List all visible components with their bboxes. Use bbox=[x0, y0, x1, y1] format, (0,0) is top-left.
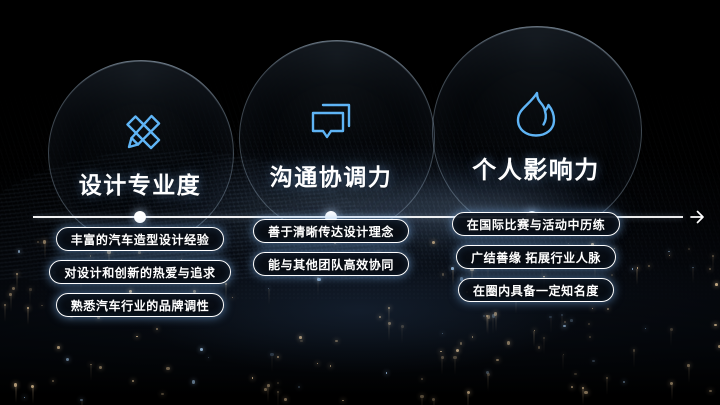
particle-dot bbox=[441, 356, 444, 359]
particle-dot bbox=[52, 380, 54, 382]
particle-dot bbox=[487, 373, 490, 376]
pill-list: 善于清晰传达设计理念 能与其他团队高效协同 bbox=[222, 219, 440, 276]
particle-dot bbox=[432, 398, 435, 401]
pill-item[interactable]: 丰富的汽车造型设计经验 bbox=[56, 227, 225, 251]
particle-dot bbox=[388, 322, 390, 324]
particle-dot bbox=[592, 308, 593, 309]
particle-dot bbox=[330, 365, 331, 366]
particle-dot bbox=[584, 391, 587, 394]
pill-item[interactable]: 对设计和创新的热爱与追求 bbox=[49, 260, 230, 284]
particle-dot bbox=[277, 382, 279, 384]
pill-item[interactable]: 善于清晰传达设计理念 bbox=[253, 219, 409, 243]
particle-dot bbox=[589, 336, 591, 338]
chat-bubbles-icon bbox=[306, 92, 356, 150]
slide-canvas: 设计专业度 丰富的汽车造型设计经验 对设计和创新的热爱与追求 熟悉汽车行业的品牌… bbox=[0, 0, 720, 405]
pill-list: 在国际比赛与活动中历练 广结善缘 拓展行业人脉 在圈内具备一定知名度 bbox=[422, 212, 650, 302]
particle-dot bbox=[298, 386, 301, 389]
particle-dot bbox=[440, 351, 442, 353]
particle-dot bbox=[317, 363, 318, 364]
particle-dot bbox=[379, 316, 381, 318]
particle-dot bbox=[342, 400, 344, 402]
arrow-right-icon bbox=[689, 209, 705, 225]
particle-dot bbox=[4, 304, 7, 307]
particle-dot bbox=[606, 377, 608, 379]
particle-dot bbox=[633, 349, 636, 352]
particle-dot bbox=[456, 349, 459, 352]
particle-dot bbox=[66, 358, 69, 361]
particle-dot bbox=[607, 308, 609, 310]
particle-dot bbox=[623, 381, 625, 383]
particle-dot bbox=[692, 267, 693, 268]
pen-ruler-icon bbox=[114, 100, 166, 158]
particle-dot bbox=[538, 346, 541, 349]
particle-dot bbox=[592, 360, 594, 362]
particle-dot bbox=[507, 341, 511, 345]
pill-item[interactable]: 能与其他团队高效协同 bbox=[253, 252, 409, 276]
particle-dot bbox=[570, 319, 573, 322]
particle-dot bbox=[709, 390, 712, 393]
particle-dot bbox=[549, 316, 552, 319]
particle-dot bbox=[270, 353, 274, 357]
pill-item[interactable]: 在圈内具备一定知名度 bbox=[458, 278, 614, 302]
particle-dot bbox=[483, 315, 485, 317]
particle-dot bbox=[467, 391, 470, 394]
particle-dot bbox=[712, 255, 714, 257]
particle-dot bbox=[687, 364, 690, 367]
particle-dot bbox=[132, 380, 134, 382]
particle-dot bbox=[496, 359, 498, 361]
particle-dot bbox=[252, 377, 253, 378]
pillar-title: 设计专业度 bbox=[79, 166, 202, 200]
particle-dot bbox=[284, 398, 287, 401]
particle-dot bbox=[460, 342, 462, 344]
particle-dot bbox=[277, 391, 279, 393]
particle-dot bbox=[670, 382, 673, 385]
particle-dot bbox=[267, 384, 270, 387]
particle-dot bbox=[9, 293, 12, 296]
pillar-title: 个人影响力 bbox=[472, 150, 600, 185]
particle-dot bbox=[668, 251, 670, 253]
pill-item[interactable]: 广结善缘 拓展行业人脉 bbox=[456, 245, 616, 269]
pillar-title: 沟通协调力 bbox=[270, 158, 393, 192]
particle-dot bbox=[472, 336, 474, 338]
particle-dot bbox=[561, 314, 563, 316]
particle-dot bbox=[192, 380, 196, 384]
particle-dot bbox=[563, 354, 564, 355]
particle-dot bbox=[57, 346, 60, 349]
particle-dot bbox=[564, 321, 567, 324]
particle-dot bbox=[156, 328, 158, 330]
particle-dot bbox=[386, 372, 388, 374]
particle-dot bbox=[200, 348, 203, 351]
pillar-column-influence: 个人影响力 在国际比赛与活动中历练 广结善缘 拓展行业人脉 在圈内具备一定知名度 bbox=[422, 84, 650, 302]
particle-dot bbox=[31, 385, 34, 388]
particle-dot bbox=[388, 307, 390, 309]
particle-dot bbox=[166, 367, 170, 371]
particle-dot bbox=[571, 386, 573, 388]
particle-dot bbox=[420, 395, 423, 398]
particle-dot bbox=[335, 340, 338, 343]
particle-dot bbox=[543, 337, 545, 339]
particle-dot bbox=[401, 325, 404, 328]
particle-dot bbox=[582, 387, 584, 389]
particle-dot bbox=[709, 268, 711, 270]
particle-dot bbox=[588, 323, 590, 325]
pill-item[interactable]: 熟悉汽车行业的品牌调性 bbox=[56, 293, 225, 317]
particle-dot bbox=[24, 397, 25, 398]
particle-dot bbox=[714, 324, 716, 326]
pillar-column-communication: 沟通协调力 善于清晰传达设计理念 能与其他团队高效协同 bbox=[222, 92, 440, 276]
particle-dot bbox=[208, 357, 209, 358]
particle-dot bbox=[670, 328, 673, 331]
particle-dot bbox=[90, 364, 92, 366]
particle-dot bbox=[277, 356, 279, 358]
particle-dot bbox=[715, 283, 718, 286]
particle-dot bbox=[299, 336, 302, 339]
particle-dot bbox=[12, 287, 15, 290]
particle-dot bbox=[574, 373, 577, 376]
particle-dot bbox=[669, 255, 670, 256]
particle-dot bbox=[300, 340, 302, 342]
particle-dot bbox=[442, 333, 443, 334]
particle-dot bbox=[453, 356, 456, 359]
particle-dot bbox=[421, 378, 423, 380]
particle-dot bbox=[268, 288, 270, 290]
particle-dot bbox=[688, 248, 690, 250]
particle-dot bbox=[80, 399, 83, 402]
pill-item[interactable]: 在国际比赛与活动中历练 bbox=[452, 212, 621, 236]
particle-dot bbox=[645, 328, 646, 329]
particle-dot bbox=[534, 330, 535, 331]
particle-dot bbox=[136, 336, 138, 338]
particle-dot bbox=[14, 383, 17, 386]
particle-dot bbox=[264, 388, 267, 391]
particle-dot bbox=[99, 366, 102, 369]
particle-dot bbox=[494, 312, 497, 315]
flame-icon bbox=[511, 84, 561, 142]
particle-dot bbox=[563, 325, 565, 327]
particle-dot bbox=[317, 278, 320, 281]
particle-dot bbox=[161, 393, 163, 395]
